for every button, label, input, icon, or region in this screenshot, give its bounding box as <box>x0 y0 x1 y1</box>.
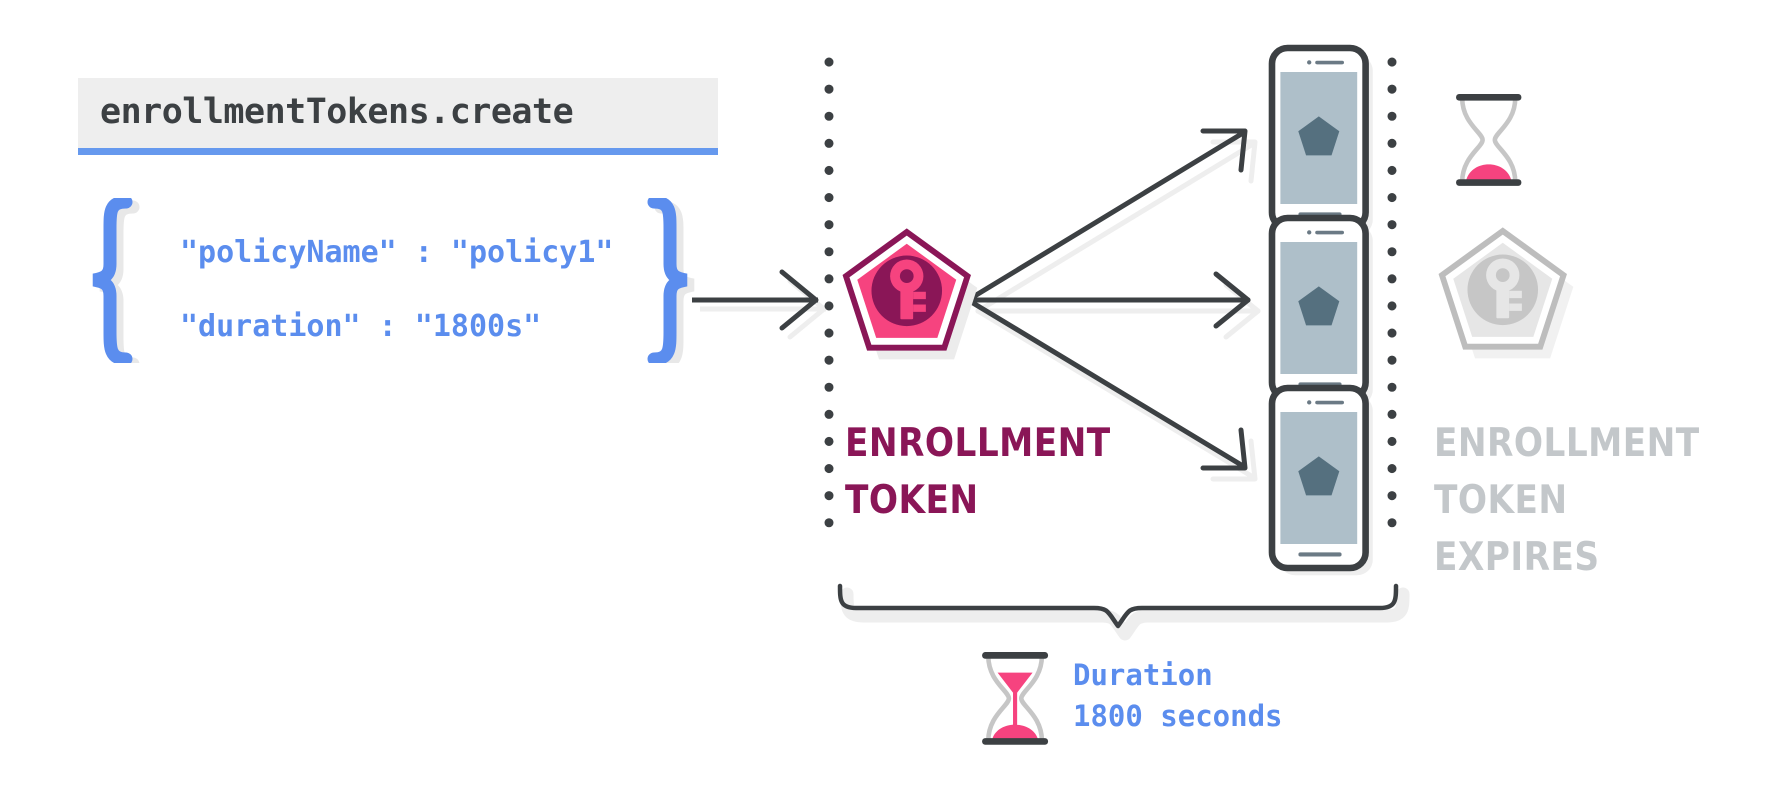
diagram-canvas: enrollmentTokens.create "policyName" : "… <box>0 0 1789 795</box>
device-phone-2-icon <box>1272 218 1373 405</box>
duration-caption: Duration 1800 seconds <box>1073 655 1283 737</box>
expires-label-line-1: TOKEN <box>1434 472 1724 529</box>
duration-hourglass-icon <box>982 652 1048 745</box>
fanout-arrow-middle-icon <box>968 274 1248 326</box>
enrollment-token-expires-label: ENROLLMENT TOKEN EXPIRES <box>1434 415 1724 586</box>
expired-hourglass-icon <box>1456 94 1521 186</box>
enrollment-token-icon <box>846 232 977 359</box>
device-phone-3-icon <box>1272 388 1373 575</box>
duration-brace-icon <box>840 586 1403 634</box>
enrollment-token-label-line-1: TOKEN <box>845 472 1127 529</box>
request-arrow-icon <box>692 272 826 337</box>
duration-value: 1800 seconds <box>1073 696 1283 737</box>
fanout-arrow-top-icon <box>968 131 1245 300</box>
enrollment-token-label: ENROLLMENT TOKEN <box>845 415 1127 529</box>
expires-label-line-2: EXPIRES <box>1434 529 1724 586</box>
flow-diagram <box>0 0 1789 795</box>
expired-token-icon <box>1442 231 1573 358</box>
duration-label: Duration <box>1073 655 1283 696</box>
expires-label-line-0: ENROLLMENT <box>1434 415 1724 472</box>
enrollment-token-label-line-0: ENROLLMENT <box>845 415 1127 472</box>
device-phone-1-icon <box>1272 48 1373 235</box>
